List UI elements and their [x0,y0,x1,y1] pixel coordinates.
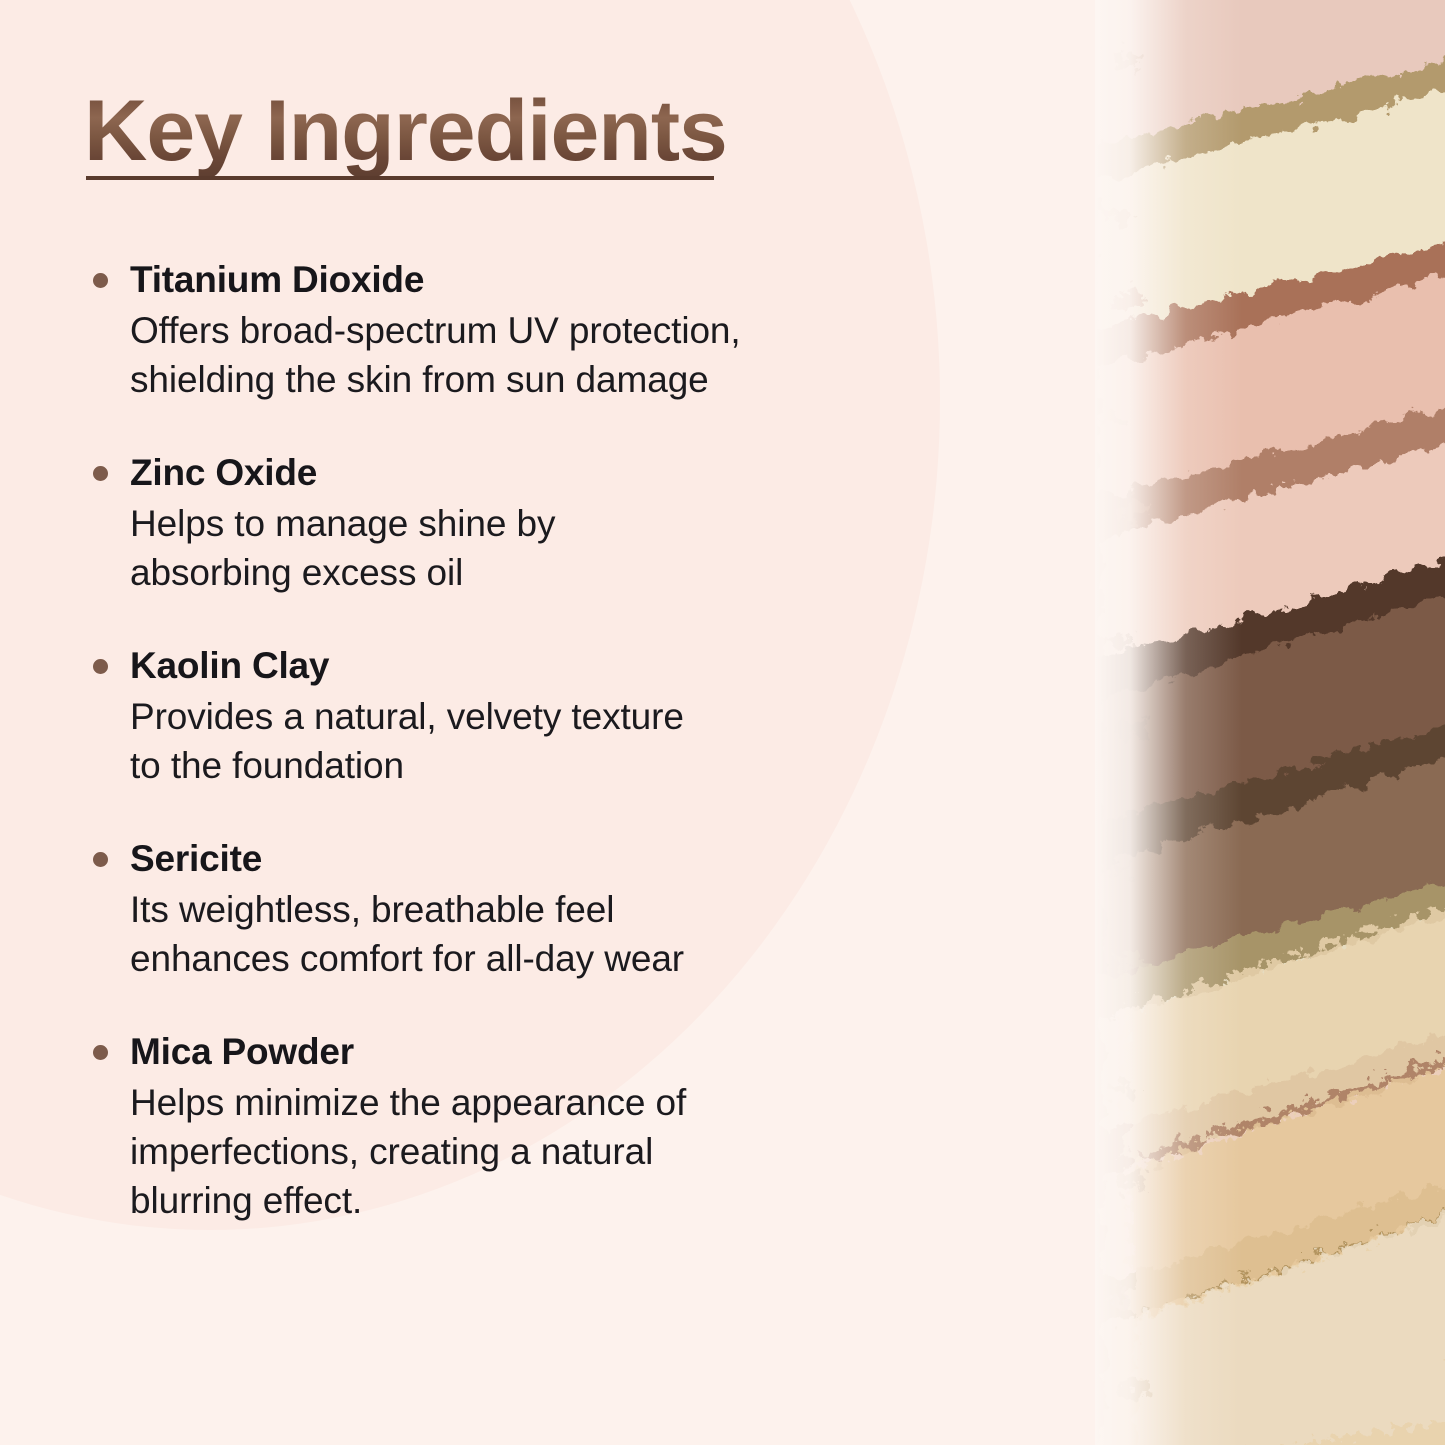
powder-swatch-graphic [1095,0,1445,1445]
bullet-dot-icon [93,1045,108,1060]
list-item: Sericite Its weightless, breathable feel… [84,837,1080,984]
page-title: Key Ingredients [84,88,727,176]
ingredient-name: Zinc Oxide [130,451,1080,495]
ingredient-list: Titanium Dioxide Offers broad-spectrum U… [84,258,1080,1226]
ingredient-name: Sericite [130,837,1080,881]
list-item: Titanium Dioxide Offers broad-spectrum U… [84,258,1080,405]
ingredient-name: Titanium Dioxide [130,258,1080,302]
ingredient-name: Kaolin Clay [130,644,1080,688]
bullet-dot-icon [93,852,108,867]
ingredient-description: Helps to manage shine by absorbing exces… [130,500,950,598]
content-column: Key Ingredients Titanium Dioxide Offers … [0,0,1080,1445]
powder-swatch-image [1095,0,1445,1445]
ingredient-description: Helps minimize the appearance of imperfe… [130,1079,950,1225]
list-item: Kaolin Clay Provides a natural, velvety … [84,644,1080,791]
ingredient-description: Provides a natural, velvety texture to t… [130,693,950,791]
page-title-wrap: Key Ingredients [84,88,714,176]
bullet-dot-icon [93,273,108,288]
ingredient-name: Mica Powder [130,1030,1080,1074]
bullet-dot-icon [93,659,108,674]
page-title-underline [86,176,714,180]
list-item: Zinc Oxide Helps to manage shine by abso… [84,451,1080,598]
ingredient-description: Its weightless, breathable feel enhances… [130,886,950,984]
ingredient-description: Offers broad-spectrum UV protection, shi… [130,307,950,405]
bullet-dot-icon [93,466,108,481]
list-item: Mica Powder Helps minimize the appearanc… [84,1030,1080,1226]
poster-canvas: Key Ingredients Titanium Dioxide Offers … [0,0,1445,1445]
